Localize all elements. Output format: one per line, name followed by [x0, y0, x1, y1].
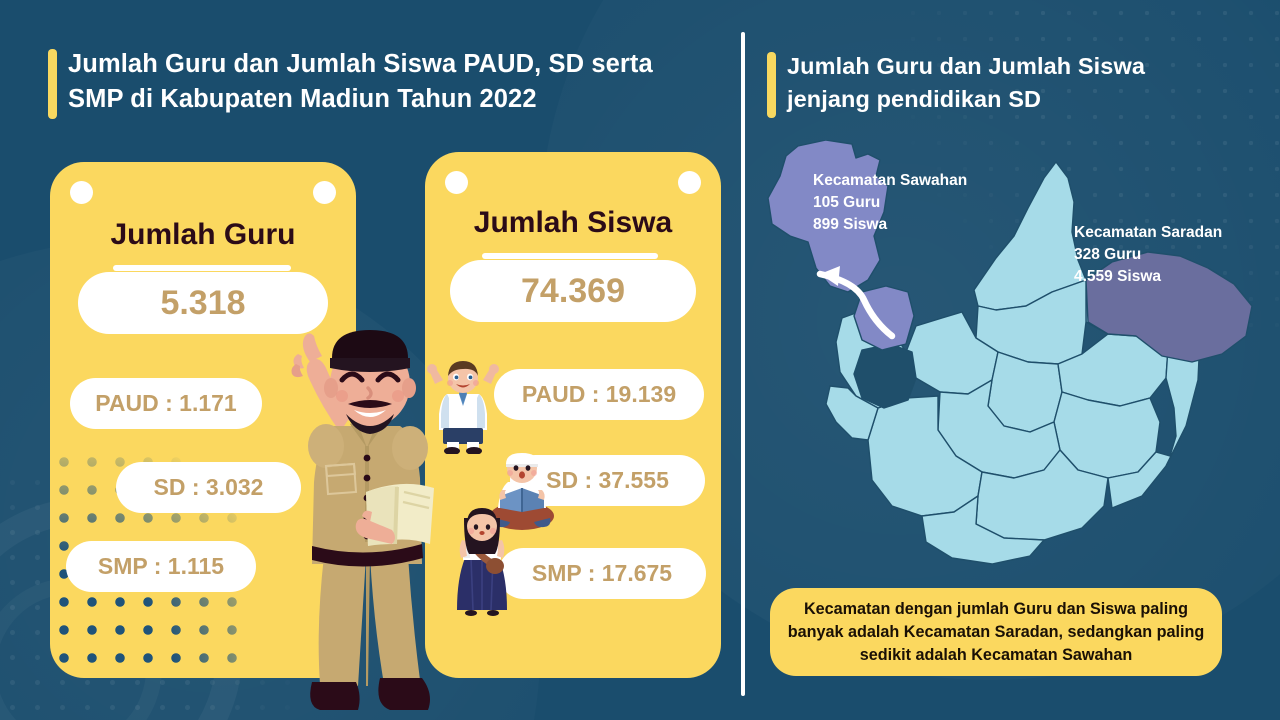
accent-bar-right — [767, 52, 776, 118]
guru-paud-value: PAUD : 1.171 — [70, 378, 262, 429]
punch-hole-icon — [678, 171, 701, 194]
saradan-guru-count: 328 Guru — [1074, 244, 1222, 266]
page-title-left: Jumlah Guru dan Jumlah Siswa PAUD, SD se… — [68, 47, 708, 117]
map-enclave-kota-madiun — [854, 344, 916, 408]
map-kabupaten-madiun: Kecamatan Sawahan 105 Guru 899 Siswa Kec… — [756, 140, 1256, 572]
guru-smp-value: SMP : 1.115 — [66, 541, 256, 592]
infographic-canvas: Jumlah Guru dan Jumlah Siswa PAUD, SD se… — [0, 0, 1280, 720]
map-annotation-saradan: Kecamatan Saradan 328 Guru 4.559 Siswa — [1074, 222, 1222, 288]
saradan-district-name: Kecamatan Saradan — [1074, 222, 1222, 244]
title-underline — [113, 265, 291, 271]
page-title-right: Jumlah Guru dan Jumlah Siswa jenjang pen… — [787, 50, 1217, 116]
card-title-guru: Jumlah Guru — [50, 218, 356, 252]
sawahan-district-name: Kecamatan Sawahan — [813, 170, 967, 192]
title-underline — [482, 253, 658, 259]
map-annotation-sawahan: Kecamatan Sawahan 105 Guru 899 Siswa — [813, 170, 967, 236]
saradan-siswa-count: 4.559 Siswa — [1074, 266, 1222, 288]
panel-divider — [741, 32, 745, 696]
siswa-paud-value: PAUD : 19.139 — [494, 369, 704, 420]
total-siswa-value: 74.369 — [450, 260, 696, 322]
accent-bar-left — [48, 49, 57, 119]
punch-hole-icon — [445, 171, 468, 194]
punch-hole-icon — [70, 181, 93, 204]
sawahan-siswa-count: 899 Siswa — [813, 214, 967, 236]
punch-hole-icon — [313, 181, 336, 204]
map-caption: Kecamatan dengan jumlah Guru dan Siswa p… — [770, 588, 1222, 676]
teacher-illustration — [262, 306, 477, 720]
siswa-smp-value: SMP : 17.675 — [498, 548, 706, 599]
card-title-siswa: Jumlah Siswa — [425, 206, 721, 240]
sawahan-guru-count: 105 Guru — [813, 192, 967, 214]
